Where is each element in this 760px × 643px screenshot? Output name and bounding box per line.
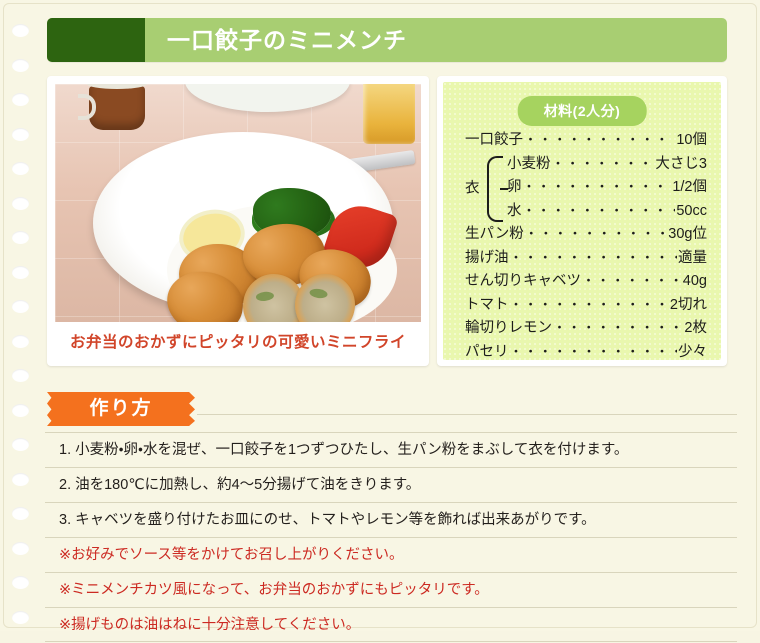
notebook-hole	[12, 335, 29, 348]
ingredient-amount: 10個	[676, 129, 721, 153]
howto-header: 作り方	[47, 392, 737, 426]
ingredient-name: 揚げ油	[443, 247, 509, 271]
ingredient-name: 一口餃子	[443, 129, 523, 153]
notebook-hole	[12, 542, 29, 555]
title-cap-decoration	[47, 18, 145, 62]
coating-group-label: 衣	[465, 176, 480, 197]
ingredient-row: パセリ・・・・・・・・・・・・・・・・・・・・・・・・・・・・・・・・・・・・・…	[443, 340, 721, 361]
howto-step: 2. 油を180℃に加熱し、約4〜5分揚げて油をきります。	[45, 467, 737, 502]
notebook-hole	[12, 404, 29, 417]
ingredient-row: トマト・・・・・・・・・・・・・・・・・・・・・・・・・・・・・・・・・・・・・…	[443, 293, 721, 317]
notebook-hole	[12, 300, 29, 313]
notebook-hole	[12, 162, 29, 175]
ingredient-row: せん切りキャベツ・・・・・・・・・・・・・・・・・・・・・・・・・・・・・・・・…	[443, 269, 721, 293]
notebook-hole	[12, 473, 29, 486]
ingredient-leader-dots: ・・・・・・・・・・・・・・・・・・・・・・・・・・・・・・・・・・・・・・・・	[510, 246, 678, 270]
notebook-hole	[12, 24, 29, 37]
ingredient-leader-dots: ・・・・・・・・・・・・・・・・・・・・・・・・・・・・・・・・・・・・・・・・	[510, 340, 678, 361]
ingredient-name: 生パン粉	[443, 223, 524, 247]
ingredient-name: パセリ	[443, 341, 509, 361]
ingredient-row: 小麦粉・・・・・・・・・・・・・・・・・・・・・・・・・・・・・・・・・・・・・…	[443, 152, 721, 176]
ingredients-card: 材料(2人分) 一口餃子・・・・・・・・・・・・・・・・・・・・・・・・・・・・…	[437, 76, 727, 366]
photo-beer-glass	[363, 84, 415, 144]
photo-caption: お弁当のおかずにピッタリの可愛いミニフライ	[47, 326, 429, 360]
notebook-hole	[12, 128, 29, 141]
notebook-hole	[12, 576, 29, 589]
ingredient-amount: 1/2個	[672, 176, 721, 200]
ingredient-amount: 大さじ3	[655, 153, 721, 177]
ingredient-name: せん切りキャベツ	[443, 270, 581, 294]
photo-main-plate	[93, 132, 393, 314]
coating-ingredient-group: 衣小麦粉・・・・・・・・・・・・・・・・・・・・・・・・・・・・・・・・・・・・…	[443, 152, 721, 223]
ingredient-row: 一口餃子・・・・・・・・・・・・・・・・・・・・・・・・・・・・・・・・・・・・…	[443, 128, 721, 152]
ingredient-leader-dots: ・・・・・・・・・・・・・・・・・・・・・・・・・・・・・・・・・・・・・・・・	[552, 152, 655, 176]
ingredient-row: 卵・・・・・・・・・・・・・・・・・・・・・・・・・・・・・・・・・・・・・・・…	[443, 175, 721, 199]
howto-note: ※お好みでソース等をかけてお召し上がりください。	[45, 537, 737, 572]
ingredients-panel: 材料(2人分) 一口餃子・・・・・・・・・・・・・・・・・・・・・・・・・・・・…	[443, 82, 721, 360]
ingredient-leader-dots: ・・・・・・・・・・・・・・・・・・・・・・・・・・・・・・・・・・・・・・・・	[525, 222, 668, 246]
ingredient-leader-dots: ・・・・・・・・・・・・・・・・・・・・・・・・・・・・・・・・・・・・・・・・	[582, 269, 682, 293]
notebook-hole	[12, 231, 29, 244]
recipe-photo-card: お弁当のおかずにピッタリの可愛いミニフライ	[47, 76, 429, 366]
ingredient-amount: 少々	[678, 341, 721, 361]
ingredient-amount: 50cc	[676, 200, 721, 224]
ingredient-name: 水	[443, 200, 522, 224]
ingredient-row: 生パン粉・・・・・・・・・・・・・・・・・・・・・・・・・・・・・・・・・・・・…	[443, 222, 721, 246]
recipe-page: 一口餃子のミニメンチ お弁当のおかずにピッタリの可愛いミニフ	[0, 0, 760, 631]
howto-rule	[197, 414, 737, 415]
ingredient-name: トマト	[443, 294, 509, 318]
howto-note: ※ミニメンチカツ風になって、お弁当のおかずにもピッタリです。	[45, 572, 737, 607]
ingredient-amount: 2切れ	[670, 294, 721, 318]
notebook-hole	[12, 266, 29, 279]
notebook-hole	[12, 611, 29, 624]
curly-brace-icon	[487, 156, 503, 222]
ingredient-amount: 40g	[683, 270, 721, 294]
notebook-hole	[12, 369, 29, 382]
ingredient-leader-dots: ・・・・・・・・・・・・・・・・・・・・・・・・・・・・・・・・・・・・・・・・	[553, 316, 683, 340]
ingredient-amount: 30g位	[668, 223, 721, 247]
recipe-photo	[55, 84, 421, 322]
notebook-holes	[0, 0, 44, 631]
page-title: 一口餃子のミニメンチ	[167, 18, 717, 62]
ingredient-leader-dots: ・・・・・・・・・・・・・・・・・・・・・・・・・・・・・・・・・・・・・・・・	[510, 293, 669, 317]
howto-steps-and-notes: 1. 小麦粉・卵・水を混ぜ、一口餃子を1つずつひたし、生パン粉をまぶして衣を付け…	[45, 432, 737, 642]
recipe-title-bar: 一口餃子のミニメンチ	[47, 18, 727, 62]
ingredient-leader-dots: ・・・・・・・・・・・・・・・・・・・・・・・・・・・・・・・・・・・・・・・・	[523, 175, 672, 199]
ingredient-row: 輪切りレモン・・・・・・・・・・・・・・・・・・・・・・・・・・・・・・・・・・…	[443, 316, 721, 340]
ingredient-row: 揚げ油・・・・・・・・・・・・・・・・・・・・・・・・・・・・・・・・・・・・・…	[443, 246, 721, 270]
ingredients-badge: 材料(2人分)	[518, 96, 647, 126]
notebook-hole	[12, 507, 29, 520]
ingredient-amount: 適量	[678, 247, 721, 271]
ingredient-amount: 2枚	[684, 317, 721, 341]
howto-step: 3. キャベツを盛り付けたお皿にのせ、トマトやレモン等を飾れば出来あがりです。	[45, 502, 737, 537]
howto-step: 1. 小麦粉・卵・水を混ぜ、一口餃子を1つずつひたし、生パン粉をまぶして衣を付け…	[45, 432, 737, 467]
notebook-hole	[12, 197, 29, 210]
photo-sauce-pitcher	[89, 86, 145, 130]
notebook-hole	[12, 438, 29, 451]
howto-note: ※揚げものは油はねに十分注意してください。	[45, 607, 737, 642]
howto-ribbon-label: 作り方	[47, 392, 195, 426]
ingredients-list: 一口餃子・・・・・・・・・・・・・・・・・・・・・・・・・・・・・・・・・・・・…	[443, 128, 721, 360]
ingredient-name: 卵	[443, 176, 522, 200]
notebook-hole	[12, 59, 29, 72]
ingredient-row: 水・・・・・・・・・・・・・・・・・・・・・・・・・・・・・・・・・・・・・・・…	[443, 199, 721, 223]
ingredient-leader-dots: ・・・・・・・・・・・・・・・・・・・・・・・・・・・・・・・・・・・・・・・・	[523, 199, 676, 223]
ingredient-name: 輪切りレモン	[443, 317, 552, 341]
ingredient-leader-dots: ・・・・・・・・・・・・・・・・・・・・・・・・・・・・・・・・・・・・・・・・	[524, 128, 675, 152]
notebook-hole	[12, 93, 29, 106]
